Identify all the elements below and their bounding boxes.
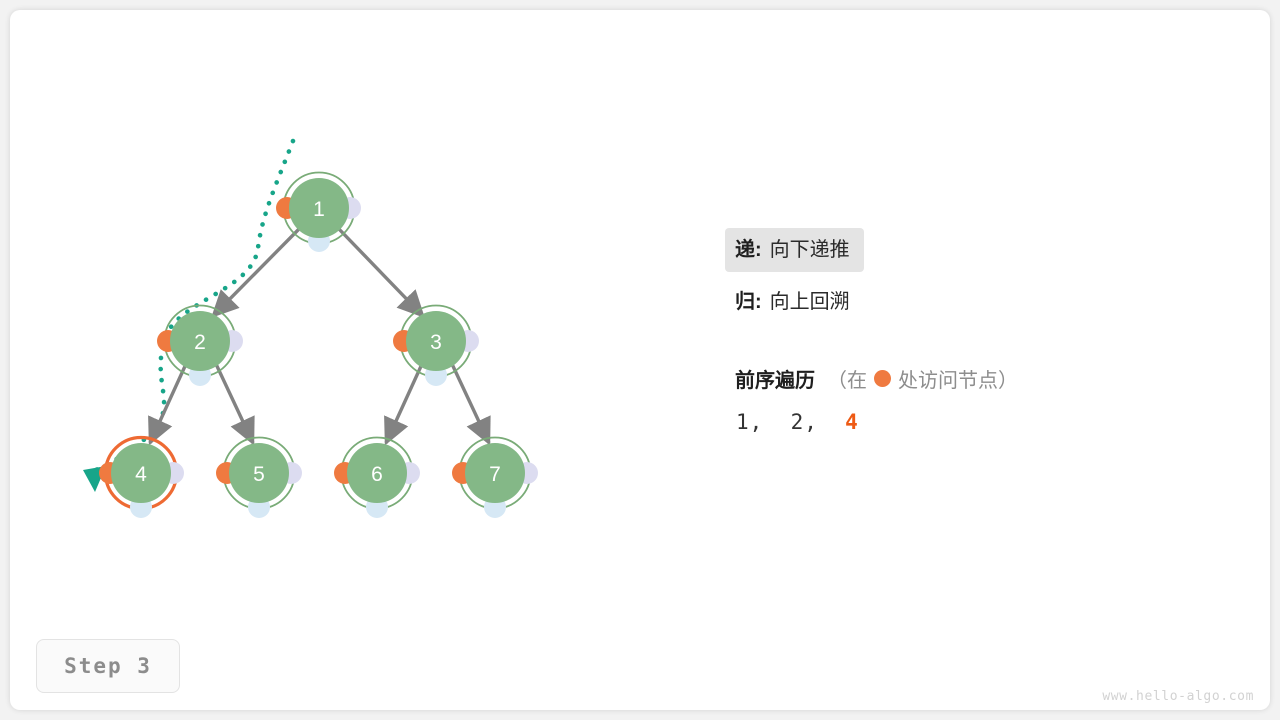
legend-row-backtrack-key: 归: [735,288,762,316]
visited-sequence-current: 4 [845,410,859,434]
legend-row-backtrack-value: 向上回溯 [770,288,850,316]
site-watermark-text: www.hello-algo.com [1102,689,1254,704]
content-card [10,10,1270,710]
legend-row-backtrack: 归: 向上回溯 [725,280,1245,324]
traversal-legend: 前序遍历 （在 处访问节点） [735,364,1018,393]
screenshot-canvas: 1 2 3 4 [0,0,1280,720]
legend-row-recursion-value: 向下递推 [770,236,850,264]
legend-block: 递: 向下递推 归: 向上回溯 [725,228,1245,324]
traversal-title: 前序遍历 [735,364,815,393]
traversal-paren-open: （在 [827,364,867,393]
step-badge: Step 3 [36,639,180,693]
legend-row-recursion-key: 递: [735,236,762,264]
orange-dot-icon [874,370,891,387]
visited-sequence: 1, 2, 4 [736,410,859,434]
visited-sequence-prior: 1, 2, [736,410,845,434]
step-badge-label: Step 3 [64,654,152,678]
traversal-paren-close: 处访问节点） [898,364,1018,393]
legend-row-recursion: 递: 向下递推 [725,228,1245,272]
site-watermark: www.hello-algo.com [1102,689,1254,704]
